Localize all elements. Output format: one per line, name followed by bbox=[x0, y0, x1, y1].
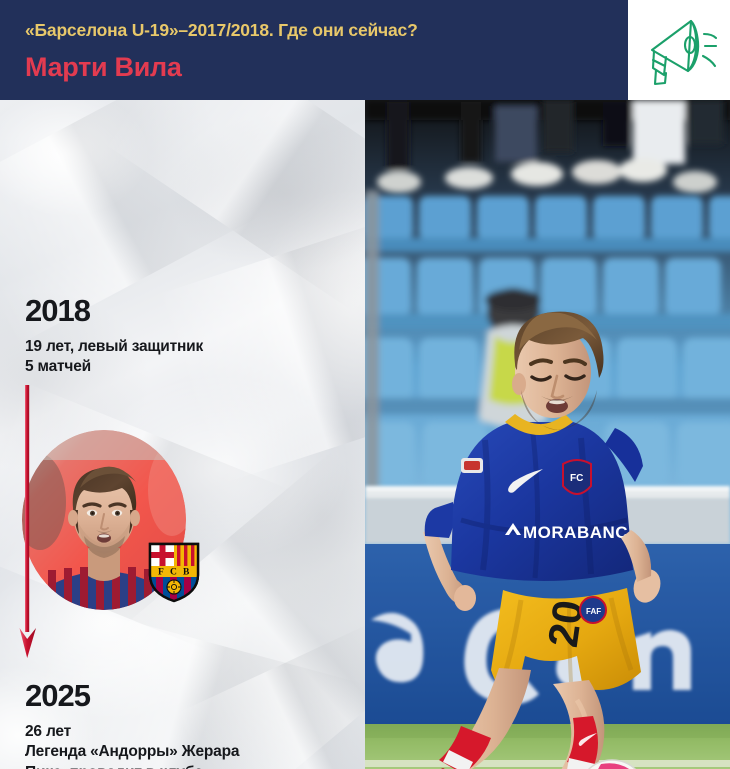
fc-barcelona-crest-icon: F C B bbox=[146, 541, 202, 603]
paper-crease bbox=[104, 100, 365, 311]
description-line: 26 лет bbox=[25, 722, 239, 742]
year-label-2025: 2025 bbox=[25, 678, 90, 714]
description-2025: 26 лет Легенда «Андорры» Жерара Пике, пр… bbox=[25, 722, 239, 769]
header-bar: «Барселона U-19»–2017/2018. Где они сейч… bbox=[0, 0, 730, 100]
crest-letter-c: C bbox=[170, 568, 177, 578]
svg-text:FC: FC bbox=[570, 473, 583, 484]
infographic-card: «Барселона U-19»–2017/2018. Где они сейч… bbox=[0, 0, 730, 769]
description-2018: 19 лет, левый защитник 5 матчей bbox=[25, 337, 203, 378]
crest-letter-b: B bbox=[183, 568, 190, 578]
description-line: 5 матчей bbox=[25, 357, 203, 377]
description-line: 19 лет, левый защитник bbox=[25, 337, 203, 357]
player-name-heading: Марти Вила bbox=[25, 52, 182, 83]
svg-text:FAF: FAF bbox=[586, 607, 601, 616]
timeline-panel: 2018 19 лет, левый защитник 5 матчей bbox=[0, 100, 365, 769]
description-line: Легенда «Андорры» Жерара bbox=[25, 742, 239, 762]
jersey-sponsor-text: MORABANC bbox=[523, 523, 628, 542]
page-title: «Барселона U-19»–2017/2018. Где они сейч… bbox=[25, 20, 418, 41]
brand-logo-panel bbox=[628, 0, 730, 100]
megaphone-icon bbox=[641, 14, 717, 86]
crest-letter-f: F bbox=[158, 568, 164, 578]
year-label-2018: 2018 bbox=[25, 293, 90, 329]
main-action-photo: FC MORABANC bbox=[365, 100, 730, 769]
description-line: Пике, проводит в клубе bbox=[25, 763, 239, 769]
timeline-arrow-down-icon bbox=[19, 385, 37, 660]
